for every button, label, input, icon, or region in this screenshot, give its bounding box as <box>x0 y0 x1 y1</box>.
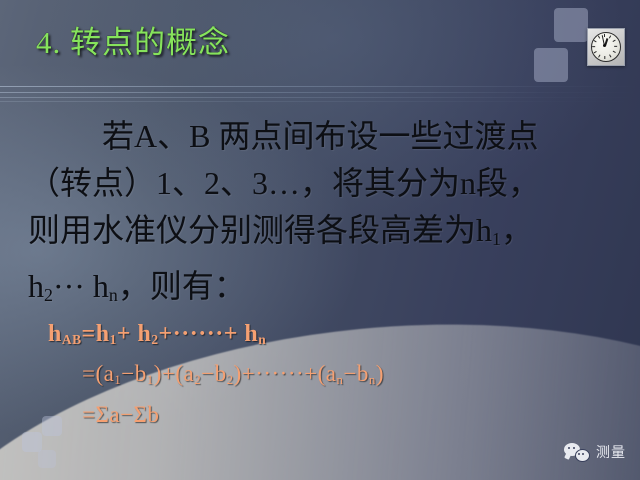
formula-1-sub-2: 2 <box>151 332 158 347</box>
formula-2-f: −b <box>343 361 368 386</box>
decorative-square <box>554 8 588 42</box>
formula-2-sub-4: 2 <box>227 373 234 387</box>
body-line-4-subscript-2: n <box>109 285 118 305</box>
divider-line <box>0 101 640 102</box>
watermark: 测量 <box>564 442 626 462</box>
formula-1-plus-hn: +······+ h <box>159 321 259 347</box>
body-line-4-text-c: ，则有： <box>118 268 246 304</box>
decorative-square <box>22 432 42 452</box>
wechat-dot <box>578 453 580 455</box>
body-line-2: （转点）1、2、3…，将其分为n段， <box>28 160 618 207</box>
formula-line-2: =(a1−b1)+(a2−b2)+······+(an−bn) <box>82 356 384 398</box>
formula-3-text: =Σa−Σb <box>82 402 159 427</box>
watermark-label: 测量 <box>596 442 626 462</box>
divider-line <box>0 86 640 87</box>
decorative-square <box>38 450 56 468</box>
clock-center-pin <box>603 44 606 47</box>
body-line-3-text-b: ， <box>501 212 533 248</box>
body-paragraph: 若A、B 两点间布设一些过渡点 （转点）1、2、3…，将其分为n段， 则用水准仪… <box>28 113 618 319</box>
clock-icon <box>587 28 625 66</box>
body-line-3-text-a: 则用水准仪分别测得各段高差为h <box>28 212 492 248</box>
slide-canvas: 4. 转点的概念 若A、B 两点间布设一些过渡点 （转点）1、2、3…，将其分为… <box>0 0 640 480</box>
formula-2-a: =(a <box>82 361 114 386</box>
formula-1-plus-h2: + h <box>117 321 152 347</box>
formula-2-b: −b <box>121 361 146 386</box>
formula-block: hAB=h1+ h2+······+ hn =(a1−b1)+(a2−b2)+·… <box>48 318 384 432</box>
body-line-4-subscript-1: 2 <box>44 285 53 305</box>
wechat-dot <box>582 453 584 455</box>
decorative-square <box>534 48 568 82</box>
formula-line-3: =Σa−Σb <box>82 398 384 432</box>
body-line-4-text-a: h <box>28 268 44 304</box>
formula-1-h: h <box>48 321 62 347</box>
body-line-4-text-b: ··· h <box>53 268 109 304</box>
body-line-3-subscript: 1 <box>492 229 501 249</box>
body-line-3: 则用水准仪分别测得各段高差为h1， <box>28 207 618 263</box>
formula-1-sub-1: 1 <box>110 332 117 347</box>
divider-line <box>0 92 640 93</box>
formula-1-eq-h1: =h <box>82 321 110 347</box>
formula-2-sub-6: n <box>369 373 376 387</box>
body-line-1-text: 若A、B 两点间布设一些过渡点 <box>102 118 538 154</box>
wechat-icon <box>564 443 590 461</box>
formula-1-sub-n: n <box>258 332 266 347</box>
wechat-dot <box>568 447 570 449</box>
formula-2-sub-2: 1 <box>147 373 154 387</box>
formula-2-c: )+(a <box>154 361 195 386</box>
wechat-bubble-small <box>575 449 590 462</box>
clock-face <box>591 32 621 62</box>
divider-line <box>0 97 640 98</box>
slide-title: 4. 转点的概念 <box>36 17 230 62</box>
formula-1-sub-ab: AB <box>62 332 82 347</box>
formula-2-e: )+······+(a <box>234 361 337 386</box>
formula-2-g: ) <box>376 361 384 386</box>
wechat-dot <box>573 447 575 449</box>
formula-2-d: −b <box>201 361 226 386</box>
formula-line-1: hAB=h1+ h2+······+ hn <box>48 318 384 356</box>
body-line-2-text: （转点）1、2、3…，将其分为n段， <box>28 165 540 201</box>
body-line-4: h2··· hn，则有： <box>28 263 618 319</box>
body-line-1: 若A、B 两点间布设一些过渡点 <box>28 113 618 160</box>
